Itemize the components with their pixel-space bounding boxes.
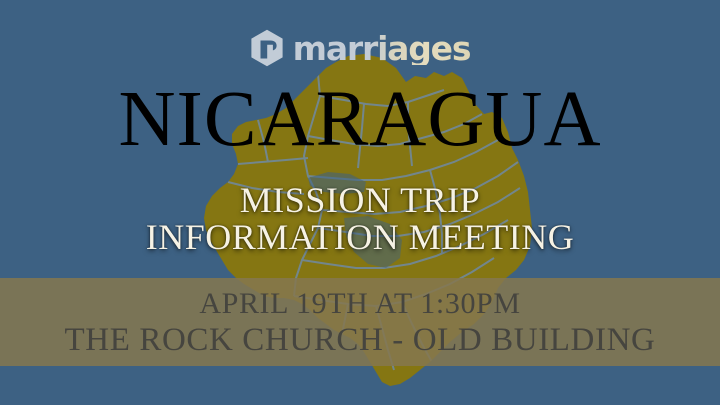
brand-logo: marriages [0,26,720,70]
subtitle-line-1: MISSION TRIP [0,182,720,219]
event-location: THE ROCK CHURCH - OLD BUILDING [0,321,720,360]
marriages-hexagon-r-icon [250,29,284,67]
brand-wordmark: marriages [293,32,471,65]
page-title: NICARAGUA [0,80,720,159]
event-poster: marriages NICARAGUA MISSION TRIP INFORMA… [0,0,720,405]
event-datetime: APRIL 19TH AT 1:30PM [0,286,720,321]
event-subtitle: MISSION TRIP INFORMATION MEETING [0,182,720,255]
event-details: APRIL 19TH AT 1:30PM THE ROCK CHURCH - O… [0,286,720,360]
subtitle-line-2: INFORMATION MEETING [0,219,720,256]
